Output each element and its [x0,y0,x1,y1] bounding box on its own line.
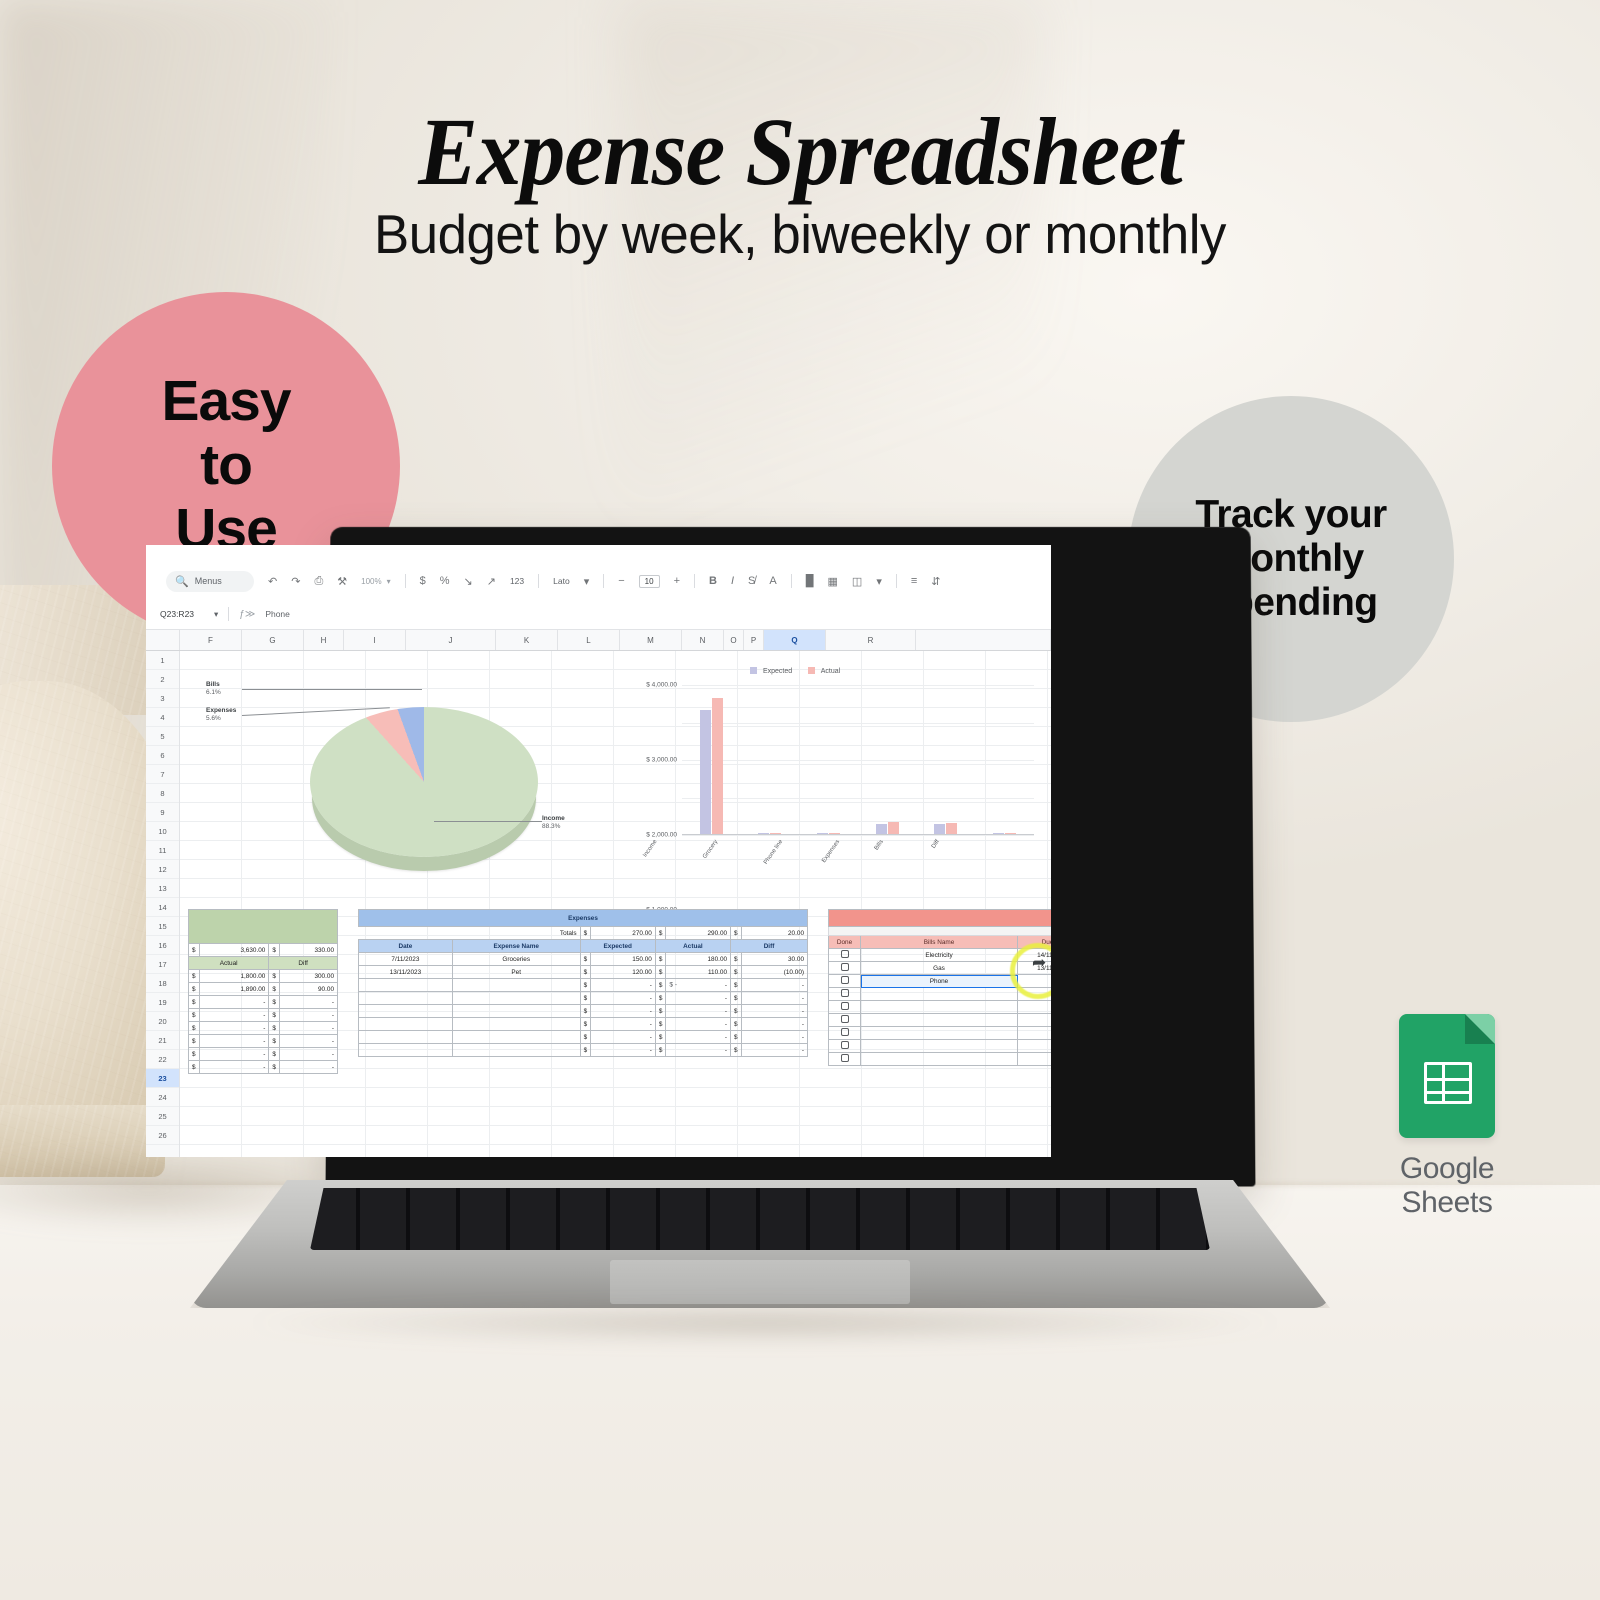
table-row[interactable]: 13/11/2023Pet$120.00$110.00$(10.00) [359,966,808,979]
table-cell[interactable] [359,1005,453,1018]
legend-item-expected: Expected [750,667,792,675]
row-header-13[interactable]: 13 [146,879,179,898]
wall-shadow-right [620,0,1040,560]
bar-group [934,823,957,834]
table-cell[interactable]: - [666,992,731,1005]
cell-reference-box[interactable]: Q23:R23 [160,609,204,619]
table-cell[interactable]: $ [189,1009,200,1022]
toolbar-divider-6 [896,574,897,588]
google-sheets-app: 🔍 Menus ↶ ↷ ⎙ ⚒ 100% ▾ $ % ↘ ↗ 123 Lato … [146,545,1051,1157]
summary-title-band [189,910,338,944]
bar-chart-plot: $ -$ 1,000.00$ 2,000.00$ 3,000.00$ 4,000… [682,685,1034,835]
table-row[interactable]: $-$-$- [359,1005,808,1018]
column-header-L[interactable]: L [558,630,620,650]
table-cell[interactable]: $ [731,1018,742,1031]
table-cell[interactable]: - [199,996,269,1009]
bar-expected [700,710,711,834]
legend-swatch-expected [750,667,757,674]
pie-label-expenses: Expenses5.6% [206,707,236,723]
toolbar-divider-2 [538,574,539,588]
table-cell[interactable]: $ [655,1018,666,1031]
table-cell[interactable]: $ [731,992,742,1005]
checkbox[interactable] [841,976,849,984]
bills-header-row: Done Bills Name Due [829,936,1052,949]
horizontal-align-icon[interactable]: ≡ [911,575,917,587]
checkbox[interactable] [841,989,849,997]
bar-actual [770,833,781,834]
table-cell[interactable]: - [279,1035,337,1048]
table-cell[interactable]: $ [269,1035,280,1048]
row-header-19[interactable]: 19 [146,993,179,1012]
toolbar-divider-3 [603,574,604,588]
row-header-7[interactable]: 7 [146,765,179,784]
row-header-3[interactable]: 3 [146,689,179,708]
google-sheets-brand: Google Sheets [1352,1014,1542,1220]
table-cell-due[interactable] [1018,1053,1052,1066]
table-cell[interactable] [452,979,580,992]
table-cell[interactable]: - [279,1061,337,1074]
table-cell[interactable]: $ [655,953,666,966]
row-header-17[interactable]: 17 [146,955,179,974]
pie-chart[interactable]: Bills6.1% Expenses5.6% Income88.3% [202,663,602,903]
undo-icon[interactable]: ↶ [268,575,277,588]
table-cell[interactable]: $ [269,1061,280,1074]
table-cell[interactable]: - [741,1031,807,1044]
table-cell[interactable] [359,1044,453,1057]
formula-value[interactable]: Phone [265,609,290,619]
fill-color-icon[interactable]: █ [806,575,814,587]
font-name-label[interactable]: Lato [553,576,570,586]
bar-group [758,833,781,834]
table-cell-done[interactable] [829,1027,861,1040]
column-header-H[interactable]: H [304,630,344,650]
fx-icon: ƒ≫ [239,609,255,620]
table-row[interactable]: $-$-$- [359,1044,808,1057]
table-cell-done[interactable] [829,962,861,975]
page-subtitle: Budget by week, biweekly or monthly [32,202,1568,266]
row-header-20[interactable]: 20 [146,1012,179,1031]
table-row[interactable] [829,1027,1052,1040]
table-row[interactable] [829,1040,1052,1053]
row-header-25[interactable]: 25 [146,1107,179,1126]
table-cell[interactable]: - [666,1044,731,1057]
table-cell[interactable]: - [591,992,656,1005]
table-cell[interactable]: (10.00) [741,966,807,979]
chevron-down-icon-namebox[interactable]: ▾ [214,609,218,620]
toolbar-divider-4 [694,574,695,588]
table-cell[interactable]: $ [189,1022,200,1035]
table-cell[interactable]: 110.00 [666,966,731,979]
bar-expected [934,824,945,834]
page-title: Expense Spreadsheet [56,96,1544,207]
table-cell[interactable]: $ [189,1048,200,1061]
table-row[interactable] [829,1014,1052,1027]
bills-spacer-row [829,927,1052,936]
google-sheets-label: Google Sheets [1352,1152,1542,1220]
y-axis-tick: $ 4,000.00 [646,682,677,689]
table-row[interactable] [829,1001,1052,1014]
zoom-control[interactable]: 100% ▾ [361,577,390,586]
table-row[interactable]: $-$- [189,996,338,1009]
table-cell-bill-name[interactable] [861,988,1018,1001]
strikethrough-icon[interactable]: S̸ [748,575,755,587]
x-axis-label: Diff [931,839,941,850]
percent-icon[interactable]: % [440,575,450,587]
table-cell[interactable]: $ [655,992,666,1005]
summary-empty-rows[interactable]: $-$-$-$-$-$-$-$-$-$-$-$- [189,996,338,1074]
bar-actual [829,833,840,834]
table-cell-due[interactable] [1018,1040,1052,1053]
pie-leader-line-expenses [242,707,390,716]
chevron-down-icon-font[interactable]: ▾ [584,575,590,588]
table-cell[interactable]: $ [731,966,742,979]
bar-chart-legend: Expected Actual [750,667,840,675]
bar-actual [712,698,723,834]
table-cell[interactable] [452,1018,580,1031]
row-header-26[interactable]: 26 [146,1126,179,1145]
table-cell[interactable]: $ [189,1061,200,1074]
pie-leader-line-income [434,821,542,822]
table-row[interactable]: $-$-$- [359,1031,808,1044]
table-cell[interactable] [452,992,580,1005]
table-cell[interactable]: - [666,1005,731,1018]
table-cell[interactable]: - [591,1018,656,1031]
table-cell[interactable]: 30.00 [741,953,807,966]
table-row[interactable]: $ 1,800.00 $ 300.00 [189,970,338,983]
table-cell-bill-name[interactable] [861,1027,1018,1040]
table-cell[interactable]: - [199,1022,269,1035]
table-cell[interactable]: - [741,1005,807,1018]
table-cell[interactable]: - [591,1005,656,1018]
formula-divider [228,607,229,621]
table-cell[interactable]: - [591,979,656,992]
table-cell-done[interactable] [829,975,861,988]
bills-title-row [829,910,1052,927]
bar-group [876,822,899,834]
expenses-header-row: Date Expense Name Expected Actual Diff [359,940,808,953]
table-row[interactable]: $-$- [189,1035,338,1048]
bar-group [993,833,1016,834]
table-cell[interactable]: $ [580,966,591,979]
legend-item-actual: Actual [808,667,840,675]
vertical-align-icon[interactable]: ⇵ [931,575,940,588]
column-header-N[interactable]: N [682,630,724,650]
bar-actual [1005,833,1016,834]
column-header-O[interactable]: O [724,630,744,650]
table-cell[interactable]: $ [655,1031,666,1044]
table-cell[interactable]: - [591,1044,656,1057]
table-cell[interactable]: $ [655,1044,666,1057]
bar-expected [758,833,769,834]
zoom-value: 100% [361,577,381,586]
table-cell[interactable]: 13/11/2023 [359,966,453,979]
table-cell[interactable]: - [279,996,337,1009]
table-row[interactable]: $-$- [189,1048,338,1061]
currency-icon[interactable]: $ [420,575,426,587]
table-cell[interactable]: $ [269,1022,280,1035]
table-row[interactable]: 7/11/2023Groceries$150.00$180.00$30.00 [359,953,808,966]
table-cell[interactable] [452,1005,580,1018]
table-cell[interactable]: $ [580,1031,591,1044]
checkbox[interactable] [841,1002,849,1010]
table-cell[interactable]: - [741,979,807,992]
bar-actual [888,822,899,834]
summary-header-row: Actual Diff [189,957,338,970]
summary-table[interactable]: $ 3,630.00 $ 330.00 Actual Diff $ 1,800.… [188,909,338,1074]
row-header-4[interactable]: 4 [146,708,179,727]
table-cell-done[interactable] [829,949,861,962]
laptop-keyboard[interactable] [310,1188,1210,1250]
checkbox[interactable] [841,1015,849,1023]
column-headers: FGHIJKLMNOPQR [146,629,1051,651]
table-cell-due[interactable] [1018,1027,1052,1040]
row-header-16[interactable]: 16 [146,936,179,955]
table-cell[interactable]: $ [269,996,280,1009]
menus-search[interactable]: 🔍 Menus [166,571,254,592]
row-header-1[interactable]: 1 [146,651,179,670]
table-cell[interactable]: $ [731,1005,742,1018]
table-cell[interactable]: Groceries [452,953,580,966]
x-axis-label: Expenses [821,839,841,864]
select-all-corner[interactable] [146,630,180,650]
font-size-input[interactable]: 10 [639,575,660,588]
laptop-shadow [250,1303,1280,1343]
decrease-decimal-icon[interactable]: ↘ [464,575,473,588]
table-cell[interactable]: $ [580,1018,591,1031]
pie-label-bills: Bills6.1% [206,681,221,697]
column-header-P[interactable]: P [744,630,764,650]
table-cell[interactable] [452,1044,580,1057]
cell-grid[interactable]: Bills6.1% Expenses5.6% Income88.3% [180,651,1051,1157]
column-header-filler [916,630,1051,650]
column-header-M[interactable]: M [620,630,682,650]
table-cell[interactable]: $ [580,1005,591,1018]
table-cell[interactable]: $ [731,979,742,992]
row-header-22[interactable]: 22 [146,1050,179,1069]
column-header-F[interactable]: F [180,630,242,650]
bar-group [700,698,723,834]
bar-expected [817,833,828,834]
table-cell-done[interactable] [829,1001,861,1014]
column-header-G[interactable]: G [242,630,304,650]
checkbox[interactable] [841,1054,849,1062]
chevron-down-icon-merge[interactable]: ▾ [876,575,882,588]
table-cell[interactable] [359,992,453,1005]
column-header-Q[interactable]: Q [764,630,826,650]
table-cell-done[interactable] [829,1040,861,1053]
table-cell-done[interactable] [829,988,861,1001]
table-cell[interactable]: 120.00 [591,966,656,979]
number-format-label[interactable]: 123 [510,576,524,586]
bar-expected [993,833,1004,834]
table-cell[interactable]: - [279,1009,337,1022]
laptop-trackpad[interactable] [610,1260,910,1304]
table-cell-bill-name[interactable]: Electricity [861,949,1018,962]
table-cell-bill-name[interactable]: Gas [861,962,1018,975]
minus-icon[interactable]: − [618,575,624,587]
table-cell[interactable]: - [199,1009,269,1022]
badge-pink-line-2: to [200,434,252,498]
table-cell[interactable]: $ [731,953,742,966]
table-cell-done[interactable] [829,1053,861,1066]
table-cell-bill-name[interactable] [861,1014,1018,1027]
chevron-down-icon: ▾ [387,577,391,586]
row-header-6[interactable]: 6 [146,746,179,765]
menus-label: Menus [195,576,222,586]
x-axis-label: Income [642,839,658,859]
table-cell[interactable] [359,979,453,992]
table-cell[interactable]: - [591,1031,656,1044]
expenses-table[interactable]: Expenses Totals $ 270.00 $ 290.00 $ 20.0… [358,909,808,1057]
print-icon[interactable]: ⎙ [314,575,323,588]
toolbar-divider [405,574,406,588]
summary-title-row [189,910,338,944]
toolbar-divider-5 [791,574,792,588]
row-headers: 1234567891011121314151617181920212223242… [146,651,180,1157]
row-header-18[interactable]: 18 [146,974,179,993]
gridline: $ - [682,835,1034,836]
formula-bar: Q23:R23 ▾ ƒ≫ Phone [146,601,1051,627]
table-cell[interactable]: $ [580,953,591,966]
table-cell-due[interactable] [1018,1014,1052,1027]
column-header-I[interactable]: I [344,630,406,650]
badge-pink-line-1: Easy [161,370,290,434]
table-cell[interactable]: - [199,1048,269,1061]
row-header-11[interactable]: 11 [146,841,179,860]
expenses-totals-row: Totals $ 270.00 $ 290.00 $ 20.00 [359,927,808,940]
table-cell[interactable]: - [199,1035,269,1048]
row-header-23[interactable]: 23 [146,1069,179,1088]
table-cell[interactable]: 180.00 [666,953,731,966]
table-row[interactable]: $-$- [189,1061,338,1074]
row-header-14[interactable]: 14 [146,898,179,917]
table-row[interactable]: $-$-$- [359,992,808,1005]
table-row[interactable]: $-$- [189,1009,338,1022]
table-cell[interactable]: 7/11/2023 [359,953,453,966]
table-cell[interactable]: $ [189,1035,200,1048]
table-row[interactable]: $-$- [189,1022,338,1035]
table-cell[interactable]: - [741,992,807,1005]
plus-icon[interactable]: + [674,575,680,587]
bar-actual [946,823,957,834]
paint-format-icon[interactable]: ⚒ [337,575,347,588]
gridline: $ 3,000.00 [682,723,1034,724]
table-cell[interactable] [359,1031,453,1044]
table-row[interactable]: $-$-$- [359,979,808,992]
sheet-body: 1234567891011121314151617181920212223242… [146,651,1051,1157]
column-header-J[interactable]: J [406,630,496,650]
bar-expected [876,824,887,835]
search-icon: 🔍 [175,575,189,588]
toolbar: 🔍 Menus ↶ ↷ ⎙ ⚒ 100% ▾ $ % ↘ ↗ 123 Lato … [146,563,1051,599]
summary-totals-row: $ 3,630.00 $ 330.00 [189,944,338,957]
table-cell[interactable]: $ [580,979,591,992]
gridline: $ 1,000.00 [682,798,1034,799]
row-header-9[interactable]: 9 [146,803,179,822]
table-cell-done[interactable] [829,1014,861,1027]
table-cell[interactable]: Pet [452,966,580,979]
column-header-K[interactable]: K [496,630,558,650]
table-cell[interactable]: $ [269,1009,280,1022]
table-cell-due[interactable] [1018,1001,1052,1014]
table-cell[interactable]: $ [655,966,666,979]
row-header-12[interactable]: 12 [146,860,179,879]
table-cell[interactable]: - [666,1031,731,1044]
row-header-5[interactable]: 5 [146,727,179,746]
table-cell[interactable]: - [666,979,731,992]
y-axis-tick: $ 2,000.00 [646,832,677,839]
column-header-R[interactable]: R [826,630,916,650]
checkbox[interactable] [841,950,849,958]
bills-title-band [829,910,1052,927]
row-header-24[interactable]: 24 [146,1088,179,1107]
table-cell[interactable]: $ [580,1044,591,1057]
table-cell[interactable]: - [279,1022,337,1035]
row-header-8[interactable]: 8 [146,784,179,803]
bar-chart[interactable]: Expected Actual $ -$ 1,000.00$ 2,000.00$… [600,661,1040,906]
pie-chart-disc [310,707,538,857]
table-cell[interactable]: $ [731,1031,742,1044]
table-cell[interactable]: - [279,1048,337,1061]
redo-icon[interactable]: ↷ [291,575,300,588]
expenses-title-row: Expenses [359,910,808,927]
bar-group [817,833,840,834]
laptop-screen: 🔍 Menus ↶ ↷ ⎙ ⚒ 100% ▾ $ % ↘ ↗ 123 Lato … [146,545,1051,1157]
table-cell[interactable]: $ [580,992,591,1005]
row-header-15[interactable]: 15 [146,917,179,936]
table-cell[interactable]: $ [731,1044,742,1057]
table-cell[interactable]: $ [655,979,666,992]
checkbox[interactable] [841,1041,849,1049]
table-cell[interactable]: $ [269,1048,280,1061]
checkbox[interactable] [841,963,849,971]
table-cell-bill-name[interactable] [861,1053,1018,1066]
borders-icon[interactable]: ▦ [828,575,838,588]
gridline: $ 2,000.00 [682,760,1034,761]
table-cell[interactable]: - [741,1044,807,1057]
checkbox[interactable] [841,1028,849,1036]
table-cell-bill-name[interactable] [861,1040,1018,1053]
row-header-10[interactable]: 10 [146,822,179,841]
table-cell[interactable]: 150.00 [591,953,656,966]
x-axis-label: Phone line [763,839,784,866]
bold-icon[interactable]: B [709,575,717,587]
table-cell-bill-name[interactable]: Phone [861,975,1018,988]
table-cell[interactable]: - [741,1018,807,1031]
row-header-21[interactable]: 21 [146,1031,179,1050]
table-cell[interactable]: $ [189,996,200,1009]
table-cell[interactable]: - [666,1018,731,1031]
gridline: $ 4,000.00 [682,685,1034,686]
x-axis-label: Grocery [702,839,719,860]
row-header-2[interactable]: 2 [146,670,179,689]
expenses-row-group[interactable]: 7/11/2023Groceries$150.00$180.00$30.0013… [359,953,808,1057]
text-color-icon[interactable]: A [769,575,776,587]
increase-decimal-icon[interactable]: ↗ [487,575,496,588]
legend-swatch-actual [808,667,815,674]
table-cell[interactable] [452,1031,580,1044]
table-cell[interactable]: - [199,1061,269,1074]
table-cell[interactable] [359,1018,453,1031]
italic-icon[interactable]: I [731,575,734,587]
table-row[interactable]: $ 1,890.00 $ 90.00 [189,983,338,996]
table-cell[interactable]: $ [655,1005,666,1018]
x-axis-label: Bills [873,839,884,851]
table-cell-bill-name[interactable] [861,1001,1018,1014]
merge-cells-icon[interactable]: ◫ [852,575,862,588]
table-row[interactable]: $-$-$- [359,1018,808,1031]
table-row[interactable] [829,1053,1052,1066]
